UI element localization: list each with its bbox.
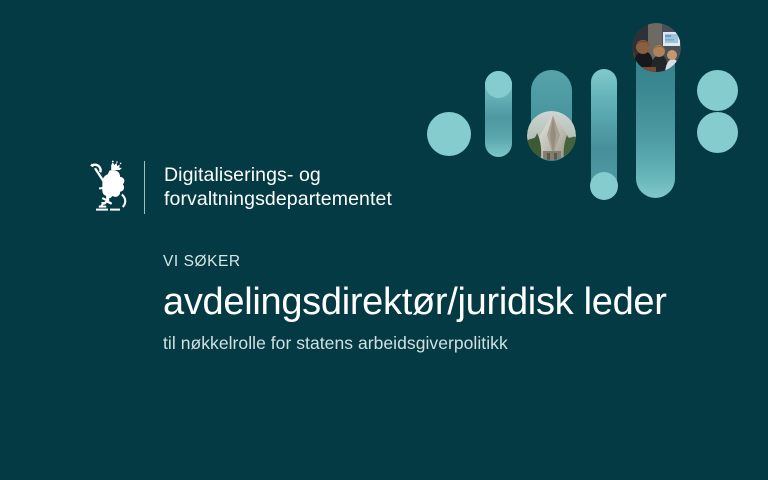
photo-building-bubble <box>527 111 576 160</box>
photo-building-image <box>527 111 576 160</box>
norwegian-coat-of-arms-lion-icon <box>86 160 132 214</box>
ministry-name: Digitaliserings- og forvaltningsdepartem… <box>164 163 392 212</box>
photo-meeting-bubble <box>632 23 681 72</box>
graphic-pill-4-cap <box>590 172 618 200</box>
graphic-pill-2-cap <box>485 71 512 98</box>
job-subtitle: til nøkkelrolle for statens arbeidsgiver… <box>163 331 723 355</box>
graphic-circle-6 <box>697 70 738 111</box>
photo-meeting-image <box>632 23 681 72</box>
graphic-circle-1 <box>427 112 471 156</box>
ministry-logo-lockup: Digitaliserings- og forvaltningsdepartem… <box>86 160 392 214</box>
job-advert-banner: Digitaliserings- og forvaltningsdepartem… <box>0 0 768 480</box>
eyebrow-label: VI SØKER <box>163 252 723 272</box>
job-title: avdelingsdirektør/juridisk leder <box>163 279 723 325</box>
headline-block: VI SØKER avdelingsdirektør/juridisk lede… <box>163 252 723 355</box>
graphic-circle-7 <box>697 112 738 153</box>
logo-divider <box>144 161 145 214</box>
decorative-graphic <box>420 0 768 215</box>
